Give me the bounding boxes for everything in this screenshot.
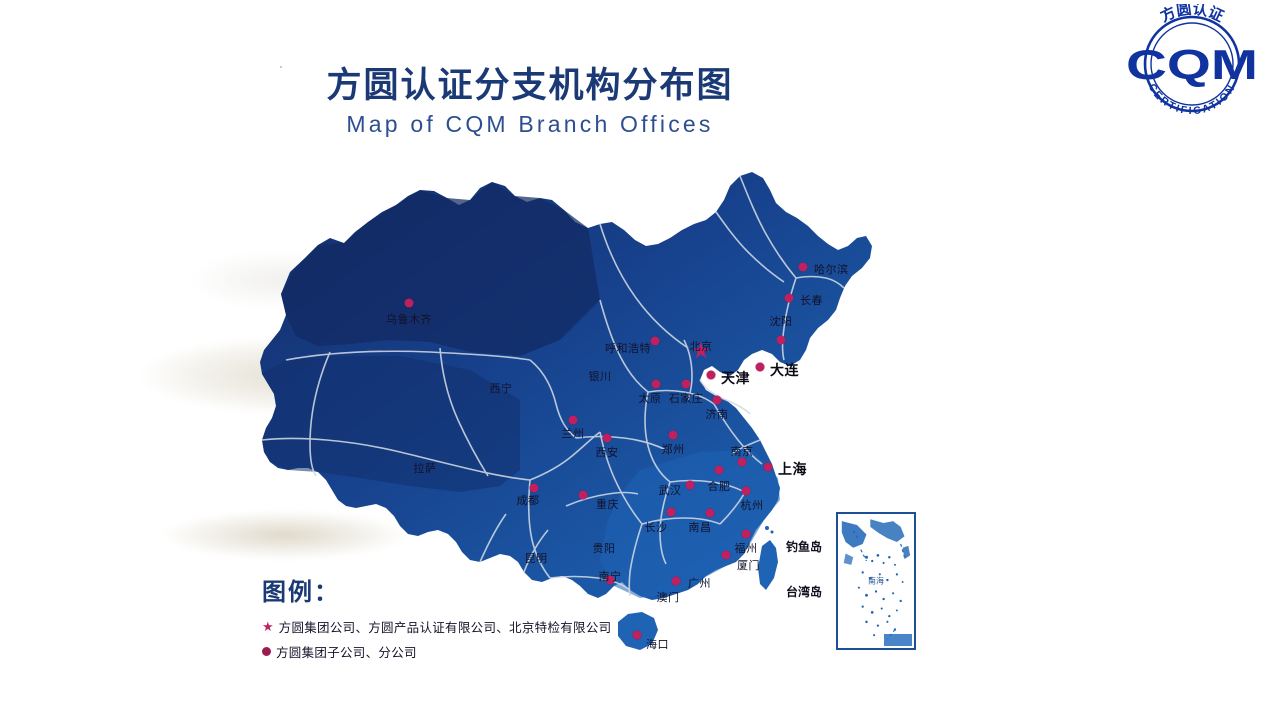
city-label: 海口 (646, 636, 669, 652)
city-marker-dot (651, 337, 660, 346)
city-marker-dot (785, 294, 794, 303)
city-label: 兰州 (562, 425, 585, 441)
city-label: 贵阳 (593, 540, 616, 556)
city-marker-dot (713, 396, 722, 405)
city-marker-dot (799, 263, 808, 272)
city-label: 呼和浩特 (605, 340, 651, 356)
city-label: 南昌 (689, 519, 712, 535)
city-marker-dot (569, 416, 578, 425)
island-label: 台湾岛 (786, 583, 822, 600)
city-label: 福州 (735, 540, 758, 556)
page-title-en: Map of CQM Branch Offices (0, 111, 1060, 138)
star-icon: ★ (262, 620, 274, 633)
inset-island-specks (858, 554, 904, 636)
city-marker-dot (715, 466, 724, 475)
dot-icon (262, 647, 271, 656)
city-label: 昆明 (525, 550, 548, 566)
legend-item-label: 方圆集团公司、方圆产品认证有限公司、北京特检有限公司 (279, 617, 612, 636)
legend-item-label: 方圆集团子公司、分公司 (276, 642, 417, 661)
city-label: 武汉 (659, 482, 682, 498)
city-marker-dot (652, 380, 661, 389)
city-label: 天津 (721, 368, 750, 388)
inset-coastline (842, 519, 910, 565)
city-marker-dot (633, 631, 642, 640)
city-label: 乌鲁木齐 (386, 311, 432, 327)
city-marker-dot (756, 363, 765, 372)
island-label: 钓鱼岛 (786, 538, 822, 555)
city-marker-dot (682, 380, 691, 389)
city-label: 南京 (731, 443, 754, 459)
city-marker-dot (742, 530, 751, 539)
city-label: 西宁 (490, 380, 513, 396)
slide-canvas: 乌鲁木齐西宁兰州拉萨呼和浩特银川★北京天津石家庄太原济南哈尔滨长春沈阳大连西安郑… (0, 0, 1280, 720)
city-label: 西安 (596, 444, 619, 460)
city-marker-dot (669, 431, 678, 440)
city-marker-dot (686, 481, 695, 490)
south-china-sea-inset: 南海 (836, 512, 916, 650)
city-label: 拉萨 (414, 460, 437, 476)
title-block: 方圆认证分支机构分布图 Map of CQM Branch Offices (0, 66, 1060, 138)
city-label: 哈尔滨 (814, 261, 849, 277)
city-marker-dot (579, 491, 588, 500)
city-marker-dot (764, 463, 773, 472)
city-marker-dot (667, 508, 676, 517)
city-label: 长春 (800, 292, 823, 308)
city-label: 广州 (688, 575, 711, 591)
city-label: 银川 (589, 368, 612, 384)
city-label: 郑州 (662, 441, 685, 457)
city-label: 成都 (517, 492, 540, 508)
city-label: 大连 (770, 360, 799, 380)
city-label: 合肥 (708, 478, 731, 494)
city-marker-dot (742, 487, 751, 496)
inset-scale-bar (884, 634, 912, 646)
city-label: 济南 (706, 406, 729, 422)
city-marker-dot (722, 551, 731, 560)
city-label: 重庆 (596, 496, 619, 512)
diaoyu-islets (765, 526, 774, 534)
legend-title: 图例： (262, 572, 611, 607)
city-label: 北京 (690, 338, 713, 354)
city-label: 沈阳 (770, 313, 793, 329)
city-label: 厦门 (737, 557, 760, 573)
taiwan-island (758, 540, 778, 590)
city-label: 长沙 (645, 519, 668, 535)
city-label: 太原 (639, 390, 662, 406)
page-title-cn: 方圆认证分支机构分布图 (0, 66, 1060, 107)
legend-item-subsidiaries: 方圆集团子公司、分公司 (262, 642, 611, 661)
city-label: 上海 (778, 459, 807, 479)
city-marker-dot (707, 371, 716, 380)
inset-sea-label: 南海 (868, 576, 884, 587)
legend: 图例： ★ 方圆集团公司、方圆产品认证有限公司、北京特检有限公司 方圆集团子公司… (262, 572, 611, 661)
city-marker-dot (777, 336, 786, 345)
city-marker-dot (672, 577, 681, 586)
logo-wordmark: CQM (1126, 41, 1258, 88)
city-label: 石家庄 (669, 390, 704, 406)
svg-text:CQM: CQM (1126, 41, 1258, 88)
city-marker-dot (405, 299, 414, 308)
city-marker-dot (706, 509, 715, 518)
city-label: 杭州 (741, 497, 764, 513)
legend-item-group-companies: ★ 方圆集团公司、方圆产品认证有限公司、北京特检有限公司 (262, 617, 611, 636)
city-label: 澳门 (657, 589, 680, 605)
cqm-logo: 方圆认证 CERTIFICATION CQM (1112, 4, 1272, 116)
city-marker-dot (603, 434, 612, 443)
